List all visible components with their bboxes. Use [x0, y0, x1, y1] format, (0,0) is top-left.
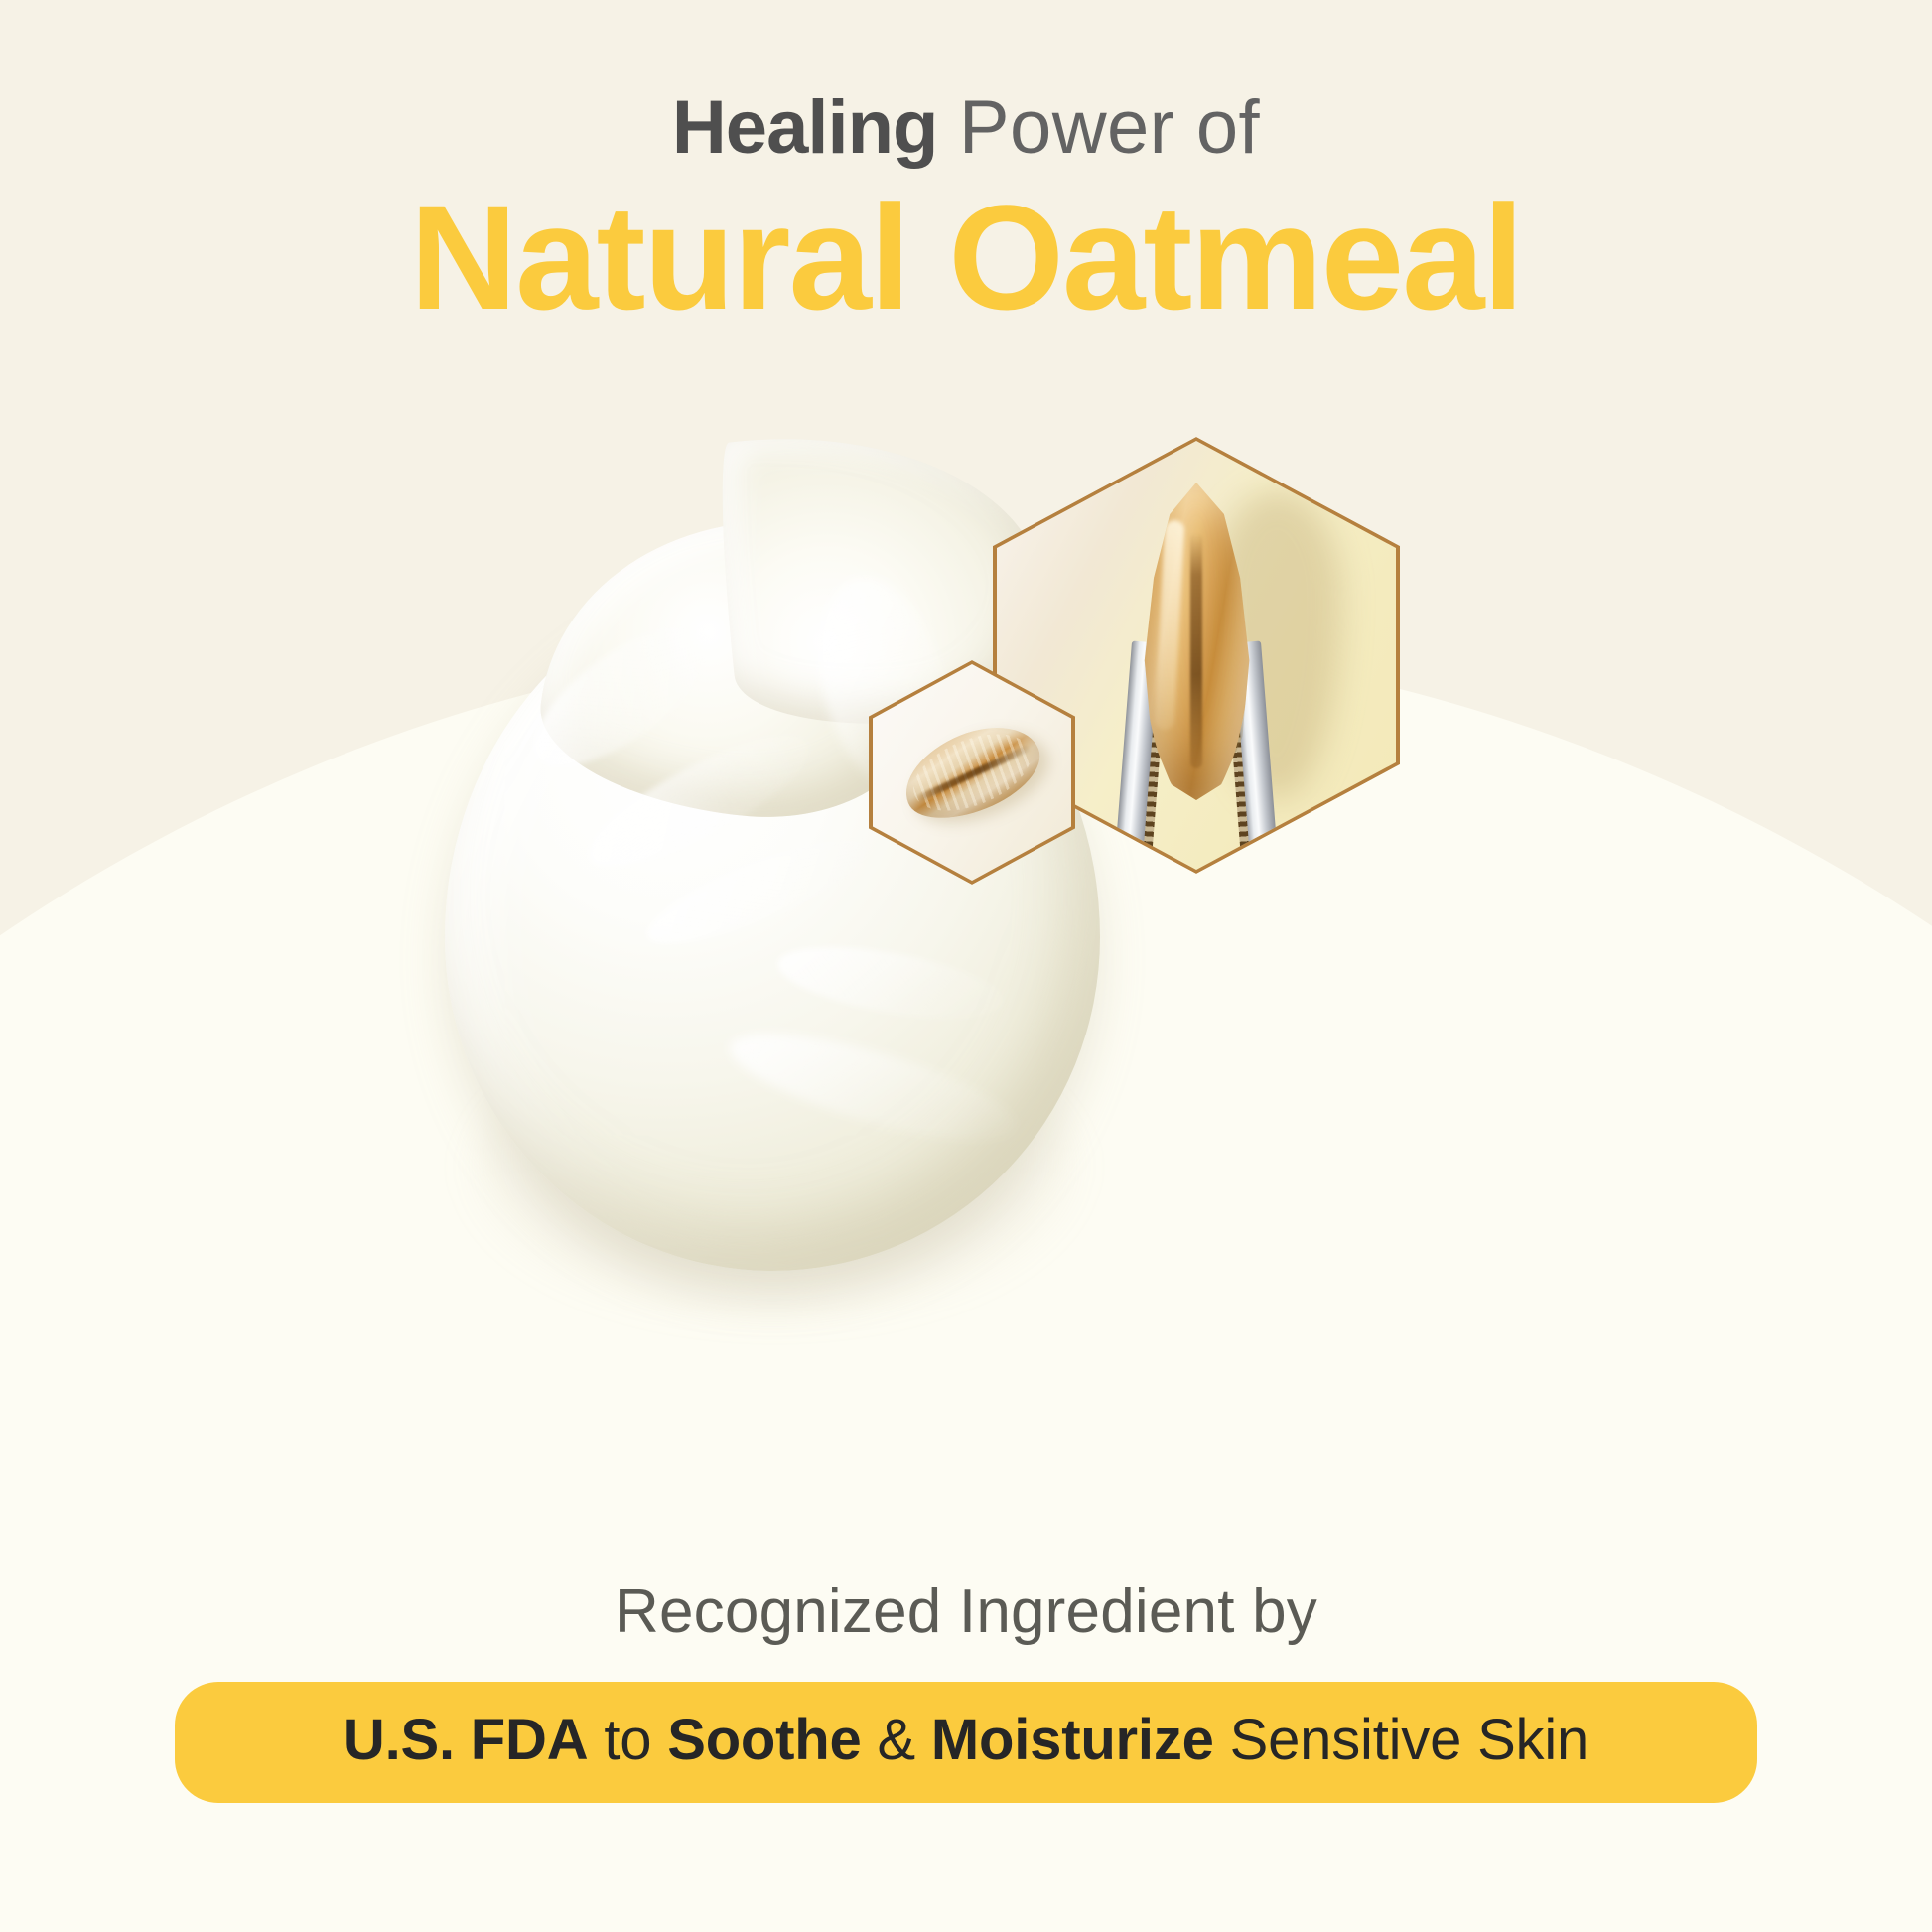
claim-moisturize: Moisturize [931, 1708, 1214, 1772]
fda-claim-text: U.S. FDA to Soothe & Moisturize Sensitiv… [218, 1708, 1714, 1773]
bottom-claim-block: Recognized Ingredient by U.S. FDA to Soo… [0, 1577, 1932, 1803]
oat-grain-highlight [1154, 520, 1184, 731]
headline-power-of-words: Power of [937, 85, 1260, 170]
claim-connector-amp: & [862, 1708, 931, 1772]
cream-highlight-1 [513, 600, 732, 791]
rolled-oat-flake [893, 710, 1052, 835]
headline-block: Healing Power of Natural Oatmeal [0, 85, 1932, 336]
cream-highlight-5 [721, 1013, 1027, 1162]
cream-highlight-4 [773, 933, 1009, 1032]
claim-sensitive-skin: Sensitive Skin [1214, 1708, 1588, 1772]
headline-line-1: Healing Power of [0, 85, 1932, 171]
fda-claim-banner: U.S. FDA to Soothe & Moisturize Sensitiv… [175, 1682, 1757, 1803]
cream-highlight-3 [637, 821, 880, 962]
fda-label: U.S. FDA [344, 1708, 589, 1772]
claim-connector-to: to [588, 1708, 667, 1772]
promo-canvas: Healing Power of Natural Oatmeal [0, 0, 1932, 1932]
headline-line-2: Natural Oatmeal [0, 179, 1932, 336]
cream-drop-shadow [467, 1023, 1082, 1320]
headline-healing-word: Healing [672, 85, 938, 170]
claim-soothe: Soothe [667, 1708, 861, 1772]
recognition-subtitle: Recognized Ingredient by [0, 1577, 1932, 1648]
oat-grain-crease [1190, 533, 1202, 768]
cream-highlight-2 [574, 712, 826, 890]
